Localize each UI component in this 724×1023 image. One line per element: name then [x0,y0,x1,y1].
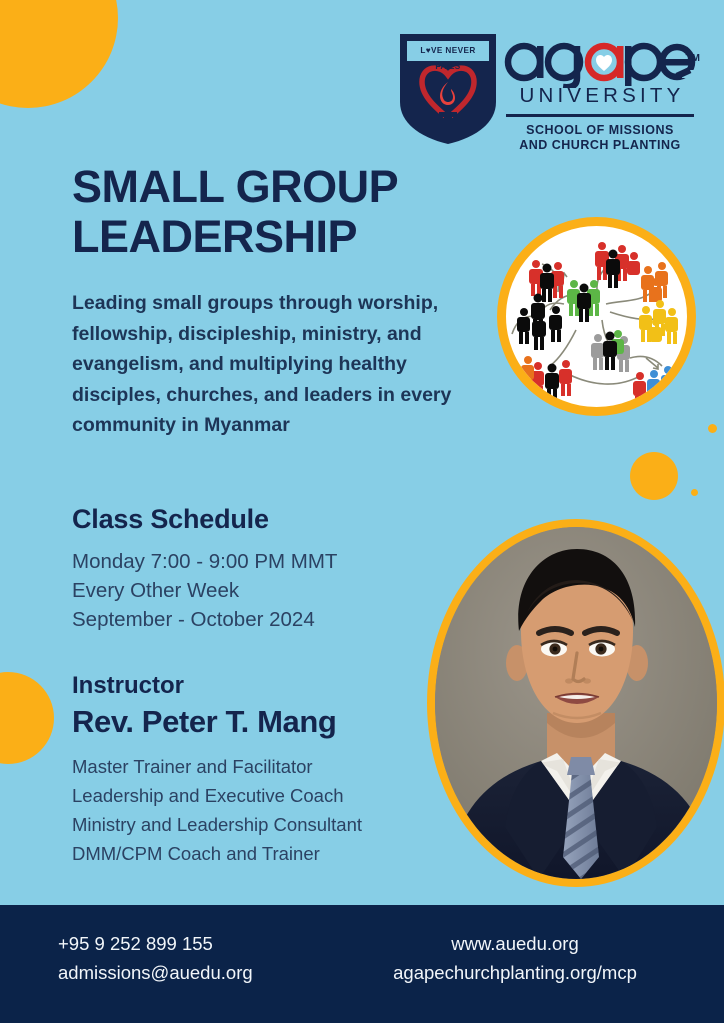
footer-email[interactable]: admissions@auedu.org [58,958,253,987]
instructor-label: Instructor [72,672,472,700]
title-line-1: SMALL GROUP [72,161,398,212]
class-schedule-section: Class Schedule Monday 7:00 - 9:00 PM MMT… [72,504,472,634]
shield-banner-text: L♥VE NEVER FAILS [407,43,489,75]
class-schedule-heading: Class Schedule [72,504,472,535]
schedule-time: Monday 7:00 - 9:00 PM MMT [72,547,472,576]
footer-phone[interactable]: +95 9 252 899 155 [58,929,253,958]
instructor-portrait [427,519,724,887]
logo-school-line-2: AND CHURCH PLANTING [504,138,696,153]
instructor-section: Instructor Rev. Peter T. Mang Master Tra… [72,672,472,868]
footer-website[interactable]: www.auedu.org [360,929,670,958]
shield-crest-icon: L♥VE NEVER FAILS [396,30,500,146]
instructor-credential: DMM/CPM Coach and Trainer [72,839,472,868]
footer-contact-right: www.auedu.org agapechurchplanting.org/mc… [360,929,670,987]
decorative-circle-left [0,672,54,764]
instructor-credential: Ministry and Leadership Consultant [72,810,472,839]
course-description: Leading small groups through worship, fe… [72,288,462,441]
instructor-name: Rev. Peter T. Mang [72,704,472,740]
trademark-symbol: TM [686,28,700,90]
instructor-credential: Leadership and Executive Coach [72,781,472,810]
network-illustration-icon [497,217,696,416]
instructor-credential: Master Trainer and Facilitator [72,752,472,781]
footer-contact-bar: +95 9 252 899 155 admissions@auedu.org w… [0,905,724,1023]
agape-wordmark: TM [504,26,696,88]
footer-contact-left: +95 9 252 899 155 admissions@auedu.org [58,929,253,987]
page-title: SMALL GROUP LEADERSHIP [72,162,492,262]
decorative-circle-right [630,452,678,500]
logo-divider [506,114,694,117]
decorative-dot-b [691,489,698,496]
schedule-dates: September - October 2024 [72,605,472,634]
title-line-2: LEADERSHIP [72,212,492,262]
agape-university-logo: L♥VE NEVER FAILS [396,26,696,166]
decorative-dot-a [708,424,717,433]
footer-program-url[interactable]: agapechurchplanting.org/mcp [360,958,670,987]
poster-root: L♥VE NEVER FAILS [0,0,724,1023]
logo-school-line-1: SCHOOL OF MISSIONS [504,123,696,138]
schedule-frequency: Every Other Week [72,576,472,605]
decorative-circle-top-left [0,0,118,108]
avatar [435,527,717,879]
logo-text-block: TM UNIVERSITY SCHOOL OF MISSIONS AND CHU… [504,26,696,153]
